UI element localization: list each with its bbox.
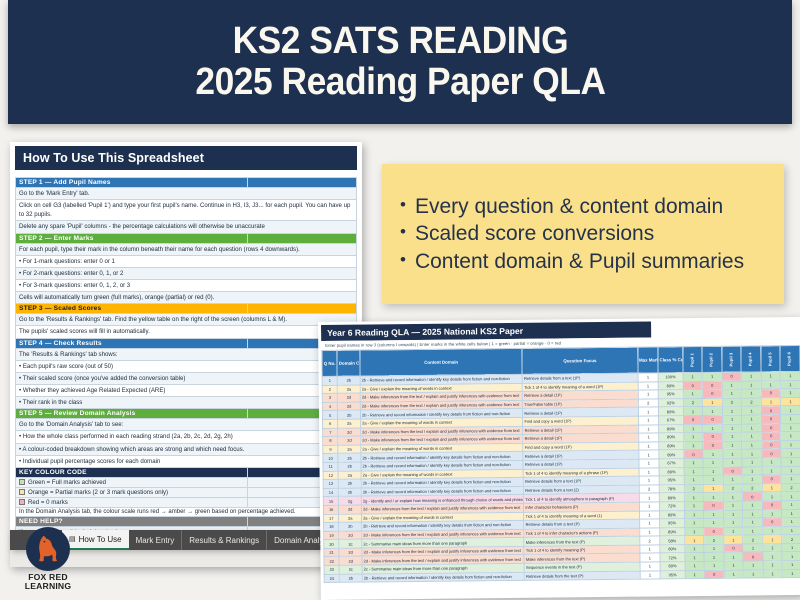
qla-pupil-mark-cell[interactable]: 1	[703, 467, 723, 476]
qla-cell-max: 1	[639, 493, 660, 502]
sheet-tab-label: Results & Rankings	[189, 536, 259, 545]
qla-pupil-mark-cell[interactable]: 2	[782, 483, 800, 492]
qla-pupil-mark-cell[interactable]: 1	[723, 501, 743, 510]
qla-cell-pct: 89%	[659, 493, 684, 502]
qla-pupil-mark-cell[interactable]: 0	[724, 544, 744, 553]
qla-cell-pct: 95%	[660, 519, 685, 528]
step-line-row: The 'Results & Rankings' tab shows:	[16, 348, 357, 360]
qla-cell-pct: 89%	[659, 433, 684, 442]
qla-pupil-mark-cell[interactable]: 1	[742, 415, 762, 424]
qla-pupil-mark-cell[interactable]: 1	[704, 561, 724, 570]
qla-pupil-mark-cell[interactable]: 0	[683, 415, 703, 424]
pupil-column-label: Pupil 4	[749, 352, 754, 366]
qla-pupil-mark-cell[interactable]: 2	[722, 398, 742, 407]
qla-pupil-mark-cell[interactable]: 1	[780, 371, 800, 380]
qla-pupil-mark-cell[interactable]: 0	[722, 372, 742, 381]
step-heading-label: STEP 5 — Review Domain Analysis	[16, 409, 248, 419]
bullet-icon: •	[400, 221, 406, 244]
qla-cell-pct: 89%	[659, 424, 684, 433]
qla-pupil-mark-cell[interactable]: 0	[761, 406, 781, 415]
qla-table: Q No.Domain CodeContent DomainQuestion F…	[321, 345, 800, 583]
qla-pupil-mark-cell[interactable]: 1	[781, 440, 800, 449]
qla-cell-max: 2	[638, 399, 659, 408]
qla-cell-q: 4	[322, 402, 337, 411]
step-heading-row: STEP 2 — Enter Marks	[16, 233, 357, 243]
step-line-label: • Their rank in the class	[16, 397, 357, 409]
qla-pupil-column-header: Pupil 6	[780, 345, 800, 371]
qla-cell-q: 19	[324, 531, 339, 540]
qla-cell-max: 1	[639, 510, 660, 519]
qla-pupil-mark-cell[interactable]: 0	[761, 423, 781, 432]
qla-cell-max: 1	[639, 553, 660, 562]
qla-pupil-mark-cell[interactable]: 0	[704, 501, 724, 510]
how-to-use-spreadsheet-panel: How To Use This Spreadsheet STEP 1 — Add…	[10, 142, 362, 567]
step-heading-row: STEP 5 — Review Domain Analysis	[16, 409, 357, 419]
qla-pupil-mark-cell[interactable]: 1	[724, 570, 744, 579]
qla-pupil-mark-cell[interactable]: 1	[742, 389, 762, 398]
feature-item-label: Content domain & Pupil summaries	[415, 249, 744, 275]
qla-pupil-mark-cell[interactable]: 1	[782, 561, 800, 570]
qla-pupil-mark-cell[interactable]: 1	[781, 414, 800, 423]
qla-cell-pct: 58%	[660, 536, 685, 545]
colour-swatch-red	[19, 499, 25, 505]
pupil-column-label: Pupil 6	[788, 352, 793, 366]
key-colour-code-label: Red = 0 marks	[28, 499, 68, 506]
qla-pupil-mark-cell[interactable]: 1	[703, 398, 723, 407]
qla-cell-max: 1	[638, 425, 659, 434]
qla-pupil-mark-cell[interactable]: 1	[703, 484, 723, 493]
qla-cell-max: 1	[639, 459, 660, 468]
feature-item-label: Scaled score conversions	[415, 221, 654, 247]
qla-pupil-mark-cell[interactable]: 1	[724, 535, 744, 544]
qla-pupil-mark-cell[interactable]: 1	[780, 380, 800, 389]
header-banner: KS2 SATS READING 2025 Reading Paper QLA	[8, 0, 792, 124]
step-line-row: • Whether they achieved Age Related Expe…	[16, 384, 357, 396]
qla-pupil-mark-cell[interactable]: 1	[743, 561, 763, 570]
qla-cell-code: 2b	[340, 574, 363, 583]
qla-cell-max: 1	[638, 442, 659, 451]
qla-pupil-mark-cell[interactable]: 0	[703, 415, 723, 424]
qla-pupil-mark-cell[interactable]: 1	[723, 518, 743, 527]
qla-pupil-mark-cell[interactable]: 1	[704, 553, 724, 562]
qla-cell-q: 2	[322, 385, 337, 394]
qla-pupil-mark-cell[interactable]: 0	[762, 449, 782, 458]
qla-pupil-mark-cell[interactable]: 1	[685, 562, 705, 571]
qla-pupil-column-header: Pupil 5	[761, 346, 781, 372]
qla-pupil-mark-cell[interactable]: 1	[743, 509, 763, 518]
qla-cell-q: 10	[323, 454, 338, 463]
qla-pupil-mark-cell[interactable]: 1	[703, 450, 723, 459]
qla-pupil-mark-cell[interactable]: 0	[703, 441, 723, 450]
qla-pupil-mark-cell[interactable]: 1	[761, 397, 781, 406]
qla-pupil-mark-cell[interactable]: 1	[742, 441, 762, 450]
qla-cell-pct: 95%	[659, 476, 684, 485]
step-line-row: Go to the 'Domain Analysis' tab to see:	[16, 419, 357, 431]
empty-cell	[247, 233, 356, 243]
qla-cell-q: 15	[323, 497, 338, 506]
key-colour-code-cell: Green = Full marks achieved	[16, 477, 248, 487]
qla-pupil-mark-cell[interactable]: 1	[761, 380, 781, 389]
feature-item-label: Every question & content domain	[415, 194, 723, 220]
qla-cell-q: 9	[323, 445, 338, 454]
step-line-row: • How the whole class performed in each …	[16, 431, 357, 443]
pupil-column-label: Pupil 2	[710, 352, 715, 366]
key-colour-code-row: Red = 0 marks	[16, 497, 357, 507]
qla-column-header: Q No.	[322, 350, 338, 376]
qla-pupil-mark-cell[interactable]: 1	[762, 526, 782, 535]
qla-pupil-mark-cell[interactable]: 2	[684, 484, 704, 493]
step-heading-label: STEP 2 — Enter Marks	[16, 233, 248, 243]
qla-cell-pct: 89%	[659, 407, 684, 416]
qla-cell-max: 1	[639, 545, 660, 554]
qla-pupil-mark-cell[interactable]: 1	[781, 406, 800, 415]
qla-pupil-mark-cell[interactable]: 1	[704, 510, 724, 519]
feature-item: •Scaled score conversions	[400, 221, 766, 247]
step-line-row: • For 3-mark questions: enter 0, 1, 2, o…	[16, 279, 357, 291]
qla-pupil-mark-cell[interactable]: 1	[762, 483, 782, 492]
spacer	[15, 170, 357, 177]
qla-pupil-mark-cell[interactable]: 1	[684, 441, 704, 450]
qla-pupil-mark-cell[interactable]: 0	[762, 518, 782, 527]
qla-cell-max: 2	[639, 485, 660, 494]
qla-pupil-mark-cell[interactable]: 1	[684, 458, 704, 467]
qla-pupil-mark-cell[interactable]: 1	[723, 449, 743, 458]
qla-pupil-mark-cell[interactable]: 2	[743, 484, 763, 493]
qla-pupil-mark-cell[interactable]: 1	[782, 543, 800, 552]
qla-pupil-mark-cell[interactable]: 1	[723, 458, 743, 467]
step-line-label: • Each pupil's raw score (out of 50)	[16, 360, 357, 372]
qla-cell-pct: 89%	[660, 562, 685, 571]
qla-pupil-mark-cell[interactable]: 1	[722, 415, 742, 424]
qla-pupil-mark-cell[interactable]: 1	[683, 372, 703, 381]
step-line-row: Go to the 'Results & Rankings' tab. Find…	[16, 314, 357, 326]
bullet-icon: •	[400, 249, 406, 272]
qla-pupil-mark-cell[interactable]: 1	[743, 501, 763, 510]
qla-pupil-mark-cell[interactable]: 1	[763, 535, 783, 544]
key-colour-code-cell: Red = 0 marks	[16, 497, 248, 507]
feature-highlights-card: •Every question & content domain•Scaled …	[382, 164, 784, 304]
step-heading-label: STEP 3 — Scaled Scores	[16, 304, 248, 314]
step-heading-row: STEP 4 — Check Results	[16, 338, 357, 348]
qla-pupil-mark-cell[interactable]: 1	[781, 432, 800, 441]
qla-pupil-mark-cell[interactable]: 0	[762, 501, 782, 510]
qla-pupil-mark-cell[interactable]: 1	[742, 406, 762, 415]
qla-cell-q: 22	[324, 557, 339, 566]
qla-cell-q: 16	[323, 505, 338, 514]
qla-pupil-mark-cell[interactable]: 1	[702, 372, 722, 381]
qla-pupil-mark-cell[interactable]: 1	[742, 458, 762, 467]
colour-swatch-orange	[19, 489, 25, 495]
qla-pupil-mark-cell[interactable]: 1	[763, 561, 783, 570]
qla-cell-pct: 100%	[658, 373, 683, 382]
qla-pupil-column-header: Pupil 3	[722, 346, 742, 372]
qla-pupil-mark-cell[interactable]: 1	[762, 458, 782, 467]
qla-cell-pct: 89%	[660, 510, 685, 519]
qla-cell-max: 1	[640, 571, 661, 580]
qla-pupil-mark-cell[interactable]: 1	[741, 372, 761, 381]
qla-pupil-mark-cell[interactable]: 2	[782, 535, 800, 544]
step-line-row: Delete any spare 'Pupil' columns - the p…	[16, 221, 357, 233]
qla-pupil-mark-cell[interactable]: 0	[704, 527, 724, 536]
qla-cell-q: 13	[323, 479, 338, 488]
qla-cell-code: 2d	[339, 548, 362, 557]
qla-pupil-mark-cell[interactable]: 1	[723, 492, 743, 501]
key-colour-code-note-row: In the Domain Analysis tab, the colour s…	[16, 507, 357, 516]
qla-pupil-mark-cell[interactable]: 1	[781, 475, 800, 484]
qla-pupil-mark-cell[interactable]: 1	[703, 424, 723, 433]
qla-pupil-mark-cell[interactable]: 2	[683, 398, 703, 407]
step-line-row: • Each pupil's raw score (out of 50)	[16, 360, 357, 372]
step-line-label: Cells will automatically turn green (ful…	[16, 292, 357, 304]
qla-pupil-mark-cell[interactable]: 2	[723, 484, 743, 493]
key-colour-code-row: Orange = Partial marks (2 or 3 mark ques…	[16, 487, 357, 497]
colour-swatch-green	[19, 479, 25, 485]
qla-cell-code: 2d	[339, 531, 362, 540]
qla-cell-q: 24	[324, 574, 339, 583]
qla-pupil-mark-cell[interactable]: 1	[704, 493, 724, 502]
qla-pupil-mark-cell[interactable]: 2	[743, 535, 763, 544]
qla-pupil-mark-cell[interactable]: 1	[685, 570, 705, 579]
qla-cell-max: 1	[638, 373, 659, 382]
step-line-label: • Whether they achieved Age Related Expe…	[16, 384, 357, 396]
qla-pupil-mark-cell[interactable]: 1	[684, 501, 704, 510]
qla-pupil-mark-cell[interactable]: 1	[741, 380, 761, 389]
qla-pupil-mark-cell[interactable]: 1	[683, 433, 703, 442]
qla-pupil-mark-cell[interactable]: 0	[684, 450, 704, 459]
qla-pupil-mark-cell[interactable]: 0	[762, 440, 782, 449]
qla-pupil-mark-cell[interactable]: 1	[782, 569, 800, 578]
qla-cell-pct: 95%	[658, 390, 683, 399]
qla-pupil-column-header: Pupil 4	[741, 346, 761, 372]
step-line-row: • Individual pupil percentage scores for…	[16, 455, 357, 467]
qla-cell-code: 2b	[338, 453, 361, 462]
qla-pupil-mark-cell[interactable]: 1	[685, 553, 705, 562]
qla-pupil-mark-cell[interactable]: 1	[782, 500, 800, 509]
qla-pupil-mark-cell[interactable]: 1	[781, 466, 800, 475]
sheet-tab-label: How To Use	[79, 535, 122, 544]
qla-cell-max: 1	[639, 467, 660, 476]
qla-pupil-mark-cell[interactable]: 0	[761, 389, 781, 398]
qla-pupil-mark-cell[interactable]: 1	[704, 544, 724, 553]
qla-cell-code: 2b	[339, 479, 362, 488]
how-to-use-body: STEP 1 — Add Pupil NamesGo to the 'Mark …	[16, 178, 357, 563]
step-line-label: • For 2-mark questions: enter 0, 1, or 2	[16, 267, 357, 279]
qla-pupil-mark-cell[interactable]: 1	[763, 544, 783, 553]
qla-pupil-mark-cell[interactable]: 0	[704, 570, 724, 579]
qla-pupil-mark-cell[interactable]: 1	[742, 423, 762, 432]
qla-pupil-mark-cell[interactable]: 1	[685, 536, 705, 545]
step-line-row: • A colour-coded breakdown showing which…	[16, 443, 357, 455]
qla-cell-code: 2b	[339, 488, 362, 497]
qla-cell-code: 2b	[338, 462, 361, 471]
key-colour-code-label: Green = Full marks achieved	[28, 479, 106, 486]
qla-cell-code: 2d	[338, 428, 361, 437]
qla-pupil-mark-cell[interactable]: 1	[683, 390, 703, 399]
step-line-row: Cells will automatically turn green (ful…	[16, 292, 357, 304]
qla-pupil-mark-cell[interactable]: 1	[684, 527, 704, 536]
key-colour-code-label: Orange = Partial marks (2 or 3 mark ques…	[28, 489, 168, 496]
qla-pupil-mark-cell[interactable]: 1	[722, 381, 742, 390]
qla-cell-code: 2d	[339, 557, 362, 566]
qla-pupil-mark-cell[interactable]: 0	[702, 389, 722, 398]
qla-cell-max: 1	[638, 450, 659, 459]
qla-cell-pct: 92%	[658, 398, 683, 407]
step-line-row: • Their scaled score (once you've added …	[16, 372, 357, 384]
qla-pupil-mark-cell[interactable]: 1	[761, 372, 781, 381]
qla-cell-code: 2d	[338, 393, 361, 402]
step-line-label: Go to the 'Domain Analysis' tab to see:	[16, 419, 357, 431]
fox-red-learning-logo: FOX RED LEARNING	[16, 527, 80, 591]
qla-column-header: Class % Correct	[658, 347, 683, 373]
qla-pupil-mark-cell[interactable]: 1	[704, 518, 724, 527]
qla-pupil-mark-cell[interactable]: 0	[703, 432, 723, 441]
qla-pupil-mark-cell[interactable]: 0	[761, 432, 781, 441]
qla-cell-code: 2g	[339, 496, 362, 505]
qla-cell-q: 6	[323, 419, 338, 428]
qla-pupil-mark-cell[interactable]: 1	[782, 518, 800, 527]
qla-cell-q: 3	[322, 393, 337, 402]
qla-pupil-mark-cell[interactable]: 1	[684, 467, 704, 476]
qla-pupil-mark-cell[interactable]: 0	[761, 415, 781, 424]
sheet-tab-mark-entry[interactable]: Mark Entry	[129, 530, 183, 550]
qla-pupil-mark-cell[interactable]: 1	[782, 526, 800, 535]
qla-pupil-mark-cell[interactable]: 0	[683, 381, 703, 390]
qla-pupil-mark-cell[interactable]: 1	[723, 510, 743, 519]
qla-cell-code: 2b	[338, 410, 361, 419]
pupil-column-label: Pupil 1	[690, 353, 695, 367]
qla-cell-code: 2d	[338, 436, 361, 445]
step-line-label: • For 1-mark questions: enter 0 or 1	[16, 255, 357, 267]
qla-pupil-mark-cell[interactable]: 1	[742, 449, 762, 458]
qla-pupil-mark-cell[interactable]: 1	[685, 544, 705, 553]
qla-pupil-mark-cell[interactable]: 1	[722, 432, 742, 441]
qla-cell-code: 2d	[339, 505, 362, 514]
qla-pupil-mark-cell[interactable]: 1	[724, 553, 744, 562]
qla-pupil-mark-cell[interactable]: 1	[742, 466, 762, 475]
qla-cell-max: 1	[638, 390, 659, 399]
qla-cell-pct: 89%	[659, 450, 684, 459]
qla-pupil-mark-cell[interactable]: 1	[742, 432, 762, 441]
qla-pupil-mark-cell[interactable]: 1	[781, 423, 800, 432]
qla-cell-pct: 72%	[660, 553, 685, 562]
qla-pupil-mark-cell[interactable]: 1	[762, 492, 782, 501]
qla-pupil-mark-cell[interactable]: 1	[781, 457, 800, 466]
qla-pupil-mark-cell[interactable]: 0	[743, 552, 763, 561]
key-colour-code-note: In the Domain Analysis tab, the colour s…	[16, 507, 357, 516]
qla-pupil-mark-cell[interactable]: 1	[743, 527, 763, 536]
bullet-icon: •	[400, 194, 406, 217]
qla-pupil-mark-cell[interactable]: 1	[782, 509, 800, 518]
sheet-tab-results-rankings[interactable]: Results & Rankings	[182, 530, 267, 550]
qla-cell-max: 1	[640, 562, 661, 571]
qla-pupil-mark-cell[interactable]: 1	[763, 552, 783, 561]
qla-cell-max: 1	[639, 476, 660, 485]
step-heading-label: STEP 1 — Add Pupil Names	[16, 178, 248, 188]
qla-pupil-mark-cell[interactable]: 1	[703, 407, 723, 416]
step-line-label: The 'Results & Rankings' tab shows:	[16, 348, 357, 360]
qla-pupil-mark-cell[interactable]: 1	[723, 527, 743, 536]
qla-pupil-mark-cell[interactable]: 2	[704, 536, 724, 545]
qla-pupil-mark-cell[interactable]: 1	[722, 424, 742, 433]
qla-pupil-mark-cell[interactable]: 1	[722, 406, 742, 415]
qla-pupil-mark-cell[interactable]: 0	[743, 492, 763, 501]
key-colour-code-cell: Orange = Partial marks (2 or 3 mark ques…	[16, 487, 248, 497]
qla-pupil-mark-cell[interactable]: 1	[762, 509, 782, 518]
step-line-row: For each pupil, type their mark in the c…	[16, 243, 357, 255]
qla-pupil-mark-cell[interactable]: 1	[684, 519, 704, 528]
qla-pupil-mark-cell[interactable]: 1	[782, 492, 800, 501]
qla-pupil-mark-cell[interactable]: 1	[723, 475, 743, 484]
qla-cell-q: 18	[324, 522, 339, 531]
qla-pupil-mark-cell[interactable]: 1	[743, 544, 763, 553]
qla-cell-pct: 72%	[659, 502, 684, 511]
qla-cell-code: 2c	[339, 539, 362, 548]
qla-pupil-mark-cell[interactable]: 1	[683, 407, 703, 416]
qla-pupil-mark-cell[interactable]: 1	[684, 510, 704, 519]
step-heading-label: STEP 4 — Check Results	[16, 338, 248, 348]
qla-pupil-mark-cell[interactable]: 0	[762, 475, 782, 484]
qla-pupil-mark-cell[interactable]: 1	[743, 570, 763, 579]
step-line-label: • For 3-mark questions: enter 0, 1, 2, o…	[16, 279, 357, 291]
qla-table-body: 12b2b - Retrieve and record information …	[322, 371, 800, 582]
qla-pupil-mark-cell[interactable]: 1	[723, 441, 743, 450]
qla-pupil-mark-cell[interactable]: 1	[782, 552, 800, 561]
qla-pupil-mark-cell[interactable]: 1	[703, 475, 723, 484]
qla-pupil-mark-cell[interactable]: 1	[683, 424, 703, 433]
qla-cell-domain: 2b - Retrieve and record information / i…	[362, 572, 524, 582]
step-line-row: • For 2-mark questions: enter 0, 1, or 2	[16, 267, 357, 279]
qla-pupil-mark-cell[interactable]: 1	[684, 493, 704, 502]
qla-cell-q: 17	[324, 514, 339, 523]
qla-cell-max: 1	[638, 433, 659, 442]
qla-column-header: Question Focus	[522, 347, 637, 374]
qla-pupil-mark-cell[interactable]: 1	[722, 389, 742, 398]
qla-pupil-mark-cell[interactable]: 1	[684, 476, 704, 485]
qla-pupil-mark-cell[interactable]: 1	[724, 561, 744, 570]
qla-cell-max: 1	[639, 519, 660, 528]
qla-cell-pct: 67%	[659, 459, 684, 468]
qla-pupil-mark-cell[interactable]: 0	[723, 467, 743, 476]
feature-item: •Content domain & Pupil summaries	[400, 249, 766, 275]
qla-pupil-mark-cell[interactable]: 0	[702, 381, 722, 390]
step-line-label: Go to the 'Mark Entry' tab.	[16, 188, 357, 200]
qla-pupil-mark-cell[interactable]: 1	[742, 475, 762, 484]
need-help-heading-row: NEED HELP?	[16, 516, 357, 526]
qla-pupil-mark-cell[interactable]: 1	[781, 449, 800, 458]
qla-cell-code: 2a	[339, 514, 362, 523]
qla-pupil-mark-cell[interactable]: 1	[763, 569, 783, 578]
qla-cell-q: 14	[323, 488, 338, 497]
qla-pupil-mark-cell[interactable]: 1	[762, 466, 782, 475]
qla-cell-code: 2c	[339, 565, 362, 574]
pupil-column-label: Pupil 5	[768, 352, 773, 366]
key-colour-code-heading-label: KEY COLOUR CODE	[16, 467, 248, 477]
qla-pupil-mark-cell[interactable]: 1	[703, 458, 723, 467]
qla-cell-code: 2a	[338, 445, 361, 454]
how-to-use-title: How To Use This Spreadsheet	[15, 146, 357, 170]
step-line-label: Go to the 'Results & Rankings' tab. Find…	[16, 314, 357, 326]
qla-pupil-mark-cell[interactable]: 1	[781, 389, 800, 398]
qla-pupil-mark-cell[interactable]: 1	[781, 397, 800, 406]
qla-cell-q: 21	[324, 548, 339, 557]
qla-pupil-mark-cell[interactable]: 1	[743, 518, 763, 527]
qla-cell-q: 1	[322, 376, 337, 385]
qla-pupil-mark-cell[interactable]: 2	[742, 398, 762, 407]
qla-spreadsheet-panel: Year 6 Reading QLA — 2025 National KS2 P…	[318, 317, 800, 600]
qla-column-header: Max Marks	[637, 347, 658, 373]
key-colour-code-row: Green = Full marks achieved	[16, 477, 357, 487]
need-help-heading-label: NEED HELP?	[16, 516, 248, 526]
